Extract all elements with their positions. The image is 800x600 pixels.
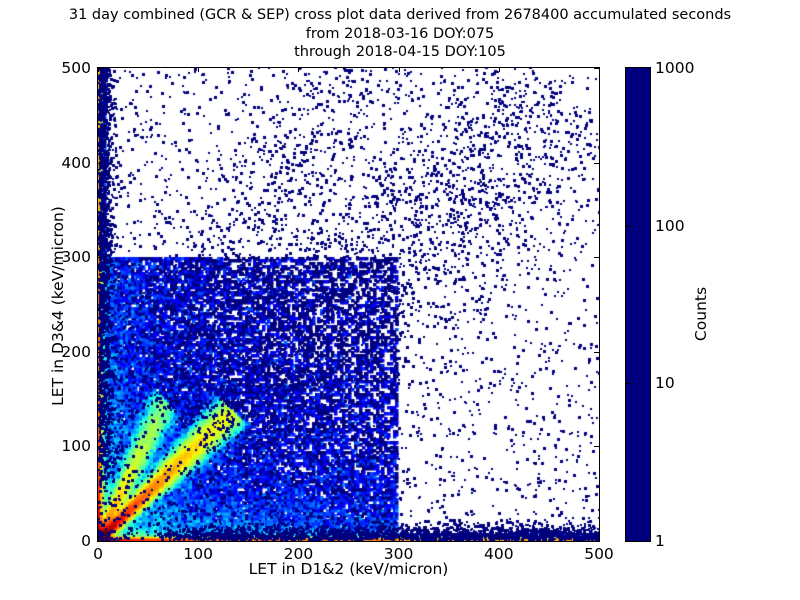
y-tick-mark [97,257,102,258]
x-tick-mark [599,536,600,541]
y-tick-mark-right [594,446,599,447]
title-line-1: 31 day combined (GCR & SEP) cross plot d… [0,6,800,25]
y-tick-mark [97,541,102,542]
colorbar-gradient [626,68,650,541]
plot-area [97,67,600,542]
x-tick-mark [298,536,299,541]
chart-title: 31 day combined (GCR & SEP) cross plot d… [0,6,800,62]
colorbar-tick-label: 1000 [655,59,694,77]
figure: 31 day combined (GCR & SEP) cross plot d… [0,0,800,600]
y-tick-label: 0 [35,532,91,550]
y-tick-mark-right [594,352,599,353]
scatter-density-canvas [98,68,599,541]
colorbar-tick-label: 1 [655,532,665,550]
colorbar [625,67,651,542]
y-tick-mark [97,68,102,69]
y-tick-label: 100 [35,437,91,455]
y-tick-mark-right [594,68,599,69]
y-tick-label: 400 [35,154,91,172]
y-axis-label: LET in D3&4 (keV/micron) [49,176,67,436]
y-tick-mark-right [594,541,599,542]
y-tick-mark-right [594,163,599,164]
y-tick-mark-right [594,257,599,258]
x-tick-mark [499,536,500,541]
x-tick-mark [198,536,199,541]
colorbar-label: Counts [692,244,710,384]
y-tick-label: 500 [35,59,91,77]
y-tick-mark [97,163,102,164]
colorbar-tick-mark [625,226,631,227]
y-tick-mark [97,352,102,353]
y-tick-mark [97,446,102,447]
x-tick-mark-top [499,67,500,72]
x-axis-label: LET in D1&2 (keV/micron) [97,560,600,578]
colorbar-tick-mark [625,383,631,384]
x-tick-mark-top [298,67,299,72]
colorbar-tick-label: 100 [655,217,685,235]
x-tick-mark-top [599,67,600,72]
x-tick-mark-top [399,67,400,72]
title-line-2: from 2018-03-16 DOY:075 [0,25,800,44]
colorbar-tick-label: 10 [655,374,675,392]
x-tick-mark-top [198,67,199,72]
x-tick-mark [399,536,400,541]
